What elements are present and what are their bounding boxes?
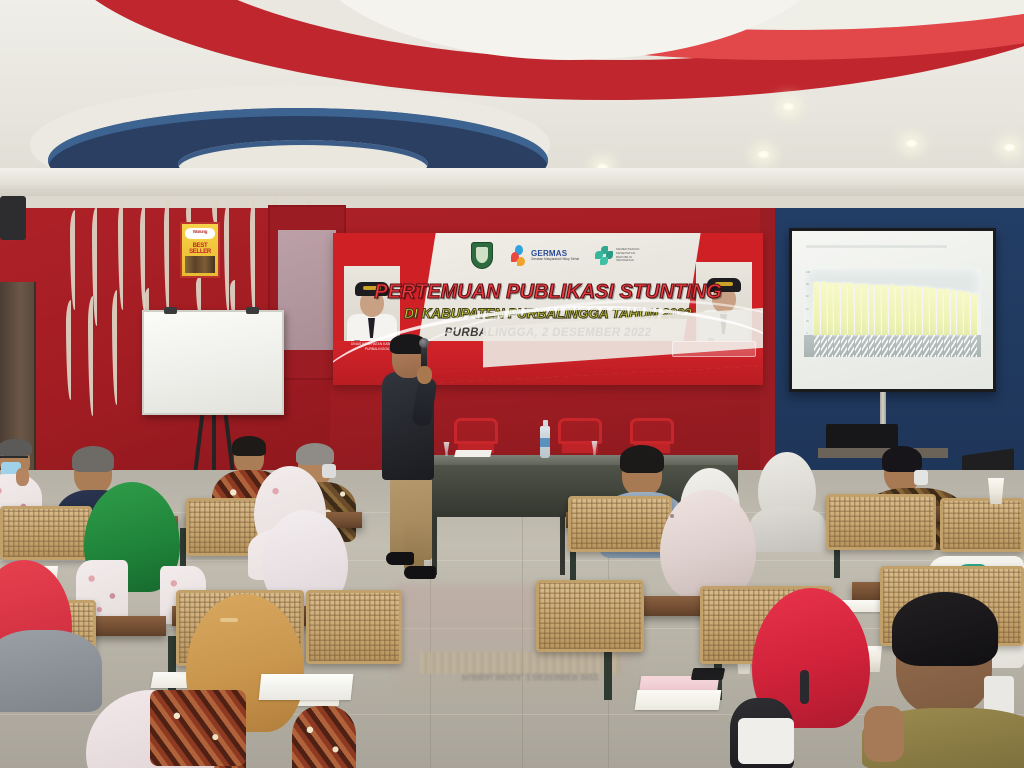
person-hair bbox=[72, 446, 114, 472]
head-table-leg bbox=[560, 515, 565, 575]
audience-chair[interactable] bbox=[940, 498, 1024, 552]
chart-bar bbox=[889, 285, 895, 335]
speaker-shoe bbox=[404, 566, 436, 579]
chart-x-tick bbox=[964, 335, 970, 357]
chart-y-axis: 100 80 60 40 20 0 bbox=[806, 271, 814, 335]
chart-x-tick bbox=[821, 335, 827, 357]
audience-chair[interactable] bbox=[0, 506, 92, 560]
wall-cornice bbox=[0, 196, 1024, 208]
chart-bars bbox=[814, 277, 977, 335]
papers-on-head-table bbox=[454, 450, 492, 457]
chart-bar bbox=[971, 294, 977, 335]
chart-bar bbox=[903, 286, 909, 335]
chart-x-tick bbox=[971, 335, 977, 357]
y-tick: 100 bbox=[806, 271, 814, 274]
wall-framed-panel-inner bbox=[278, 230, 336, 350]
kemenkes-logo-icon: KEMENTERIAN KESEHATAN REPUBLIK INDONESIA bbox=[595, 246, 639, 265]
person-hand bbox=[16, 468, 29, 486]
y-tick: 0 bbox=[806, 332, 814, 335]
kemenkes-mark-icon bbox=[595, 246, 613, 265]
projection-screen: 100 80 60 40 20 0 bbox=[789, 228, 996, 392]
chart-x-tick bbox=[930, 335, 936, 357]
chart-bar bbox=[875, 285, 881, 335]
chart-x-tick bbox=[869, 335, 875, 357]
chart-bar bbox=[896, 286, 902, 335]
wall-speaker-icon bbox=[0, 196, 26, 240]
hijab-pin-icon bbox=[220, 618, 238, 622]
whiteboard-clip-icon bbox=[164, 307, 177, 314]
audience-chair[interactable] bbox=[568, 496, 672, 552]
chart-bar bbox=[930, 288, 936, 335]
person-hair bbox=[882, 446, 922, 472]
chart-x-tick bbox=[923, 335, 929, 357]
chart-x-tick bbox=[889, 335, 895, 357]
kemenkes-line4: INDONESIA bbox=[616, 259, 639, 263]
chart-x-tick bbox=[814, 335, 820, 357]
chart-bar bbox=[923, 287, 929, 335]
papers-on-table bbox=[635, 690, 722, 710]
downlight-icon bbox=[1003, 143, 1016, 152]
ceiling bbox=[0, 0, 1024, 200]
water-bottle bbox=[540, 426, 550, 458]
y-tick: 60 bbox=[806, 295, 814, 298]
person-hair bbox=[620, 445, 664, 473]
person-shoulders bbox=[0, 630, 102, 712]
chair-back bbox=[630, 418, 674, 444]
chart-bar bbox=[814, 282, 820, 335]
chart-x-tick bbox=[937, 335, 943, 357]
chart-bar bbox=[964, 292, 970, 335]
chart-x-tick bbox=[848, 335, 854, 357]
y-tick: 20 bbox=[806, 320, 814, 323]
chart-bar bbox=[944, 289, 950, 335]
chart-x-tick bbox=[855, 335, 861, 357]
person-bag-batik bbox=[150, 690, 246, 766]
av-equipment-box bbox=[826, 424, 898, 450]
person-hand bbox=[864, 706, 904, 762]
chart-x-tick bbox=[951, 335, 957, 357]
person-shoulders bbox=[750, 506, 826, 552]
poster-brand: Warung bbox=[184, 229, 216, 234]
easel-leg-center bbox=[212, 412, 216, 474]
chart-x-tick bbox=[828, 335, 834, 357]
chart-x-tick bbox=[916, 335, 922, 357]
chart-bar bbox=[916, 287, 922, 335]
chart-x-tick bbox=[944, 335, 950, 357]
chart-x-tick bbox=[862, 335, 868, 357]
hijab-tie bbox=[800, 670, 809, 704]
meeting-room-photo: Warung BEST SELLER GERMAS Gerakan Mas bbox=[0, 0, 1024, 768]
person-hair bbox=[892, 592, 998, 666]
banner-footer-right-box bbox=[672, 341, 756, 357]
slide-bar-chart: 100 80 60 40 20 0 bbox=[804, 269, 981, 357]
kemenkes-text: KEMENTERIAN KESEHATAN REPUBLIK INDONESIA bbox=[616, 248, 639, 263]
person-hair bbox=[296, 443, 334, 465]
slide-title-placeholder bbox=[806, 245, 947, 248]
chart-x-tick bbox=[834, 335, 840, 357]
floor-reflection-banner bbox=[420, 652, 620, 674]
chart-x-tick bbox=[875, 335, 881, 357]
projection-surface: 100 80 60 40 20 0 bbox=[792, 231, 993, 389]
germas-subtitle: Gerakan Masyarakat Hidup Sehat bbox=[531, 258, 579, 261]
chart-x-axis-labels bbox=[804, 335, 981, 357]
speaker-shoe bbox=[386, 552, 414, 565]
downlight-icon bbox=[757, 150, 770, 159]
audience-chair[interactable] bbox=[536, 580, 644, 652]
chart-bar bbox=[937, 289, 943, 335]
chart-x-tick bbox=[957, 335, 963, 357]
person-hair bbox=[0, 439, 32, 456]
poster-photo bbox=[185, 256, 215, 273]
chart-plot-area: 100 80 60 40 20 0 bbox=[804, 269, 981, 335]
chart-x-tick bbox=[896, 335, 902, 357]
chart-x-tick bbox=[882, 335, 888, 357]
audience-chair[interactable] bbox=[826, 494, 936, 550]
germas-mark-icon bbox=[509, 245, 528, 267]
chart-bar bbox=[869, 285, 875, 335]
face-mask bbox=[914, 470, 928, 485]
whiteboard-clip-icon bbox=[246, 307, 259, 314]
purbalingga-regency-crest-icon bbox=[471, 242, 493, 269]
chart-bar bbox=[855, 284, 861, 335]
germas-logo-icon: GERMAS Gerakan Masyarakat Hidup Sehat bbox=[509, 245, 579, 267]
person-hair bbox=[232, 436, 266, 456]
smartphone[interactable] bbox=[691, 668, 726, 680]
chart-x-tick bbox=[841, 335, 847, 357]
chart-bar bbox=[821, 282, 827, 335]
chart-bar bbox=[862, 284, 868, 335]
chart-x-tick bbox=[910, 335, 916, 357]
floor-text-reflection: PURBALINGGA, 2 DESEMBER 2022 bbox=[440, 672, 620, 681]
speaker-hand bbox=[417, 366, 432, 384]
chart-bar bbox=[910, 286, 916, 335]
chart-x-tick bbox=[903, 335, 909, 357]
downlight-icon bbox=[905, 139, 918, 148]
face-mask bbox=[322, 464, 336, 478]
chair-back bbox=[454, 418, 498, 444]
chart-bar bbox=[841, 283, 847, 335]
chair-back bbox=[558, 418, 602, 444]
whiteboard[interactable] bbox=[142, 310, 284, 415]
chart-bar bbox=[834, 283, 840, 335]
germas-text: GERMAS Gerakan Masyarakat Hidup Sehat bbox=[531, 250, 579, 261]
chart-bar bbox=[951, 290, 957, 335]
person-bag bbox=[738, 718, 794, 764]
chart-bar bbox=[882, 285, 888, 335]
hijab-pin-icon bbox=[670, 514, 674, 518]
downlight-icon bbox=[782, 102, 795, 111]
wall-poster: Warung BEST SELLER bbox=[180, 222, 220, 278]
poster-headline: BEST SELLER bbox=[184, 243, 216, 255]
chart-bar bbox=[848, 283, 854, 335]
chart-bar bbox=[957, 291, 963, 335]
person-blouse-batik bbox=[292, 706, 356, 768]
audience-chair[interactable] bbox=[306, 590, 402, 664]
y-tick: 80 bbox=[806, 283, 814, 286]
y-tick: 40 bbox=[806, 308, 814, 311]
eyeglasses-icon bbox=[0, 456, 28, 458]
banner-logo-row: GERMAS Gerakan Masyarakat Hidup Sehat KE… bbox=[471, 242, 639, 269]
chart-bar bbox=[828, 283, 834, 335]
open-notebook bbox=[259, 674, 354, 700]
